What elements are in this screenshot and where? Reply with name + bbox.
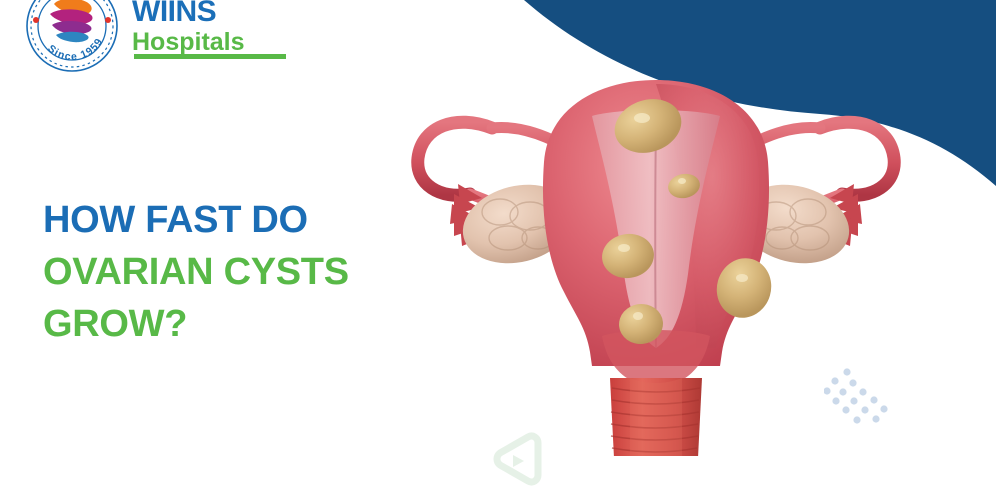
- logo-wordmark: WIINS Hospitals: [132, 0, 332, 56]
- logo-name-line1: WIINS: [132, 0, 332, 26]
- diagonal-dot-grid: [824, 366, 894, 428]
- logo[interactable]: Since 1959 WIINS Hospitals: [24, 0, 314, 70]
- play-triangle-watermark: [488, 428, 550, 490]
- banner: Since 1959 WIINS Hospitals HOW FAST DO O…: [0, 0, 996, 498]
- logo-name-line2: Hospitals: [132, 28, 332, 56]
- logo-underline: [134, 54, 286, 59]
- logo-badge-icon: Since 1959: [24, 0, 120, 74]
